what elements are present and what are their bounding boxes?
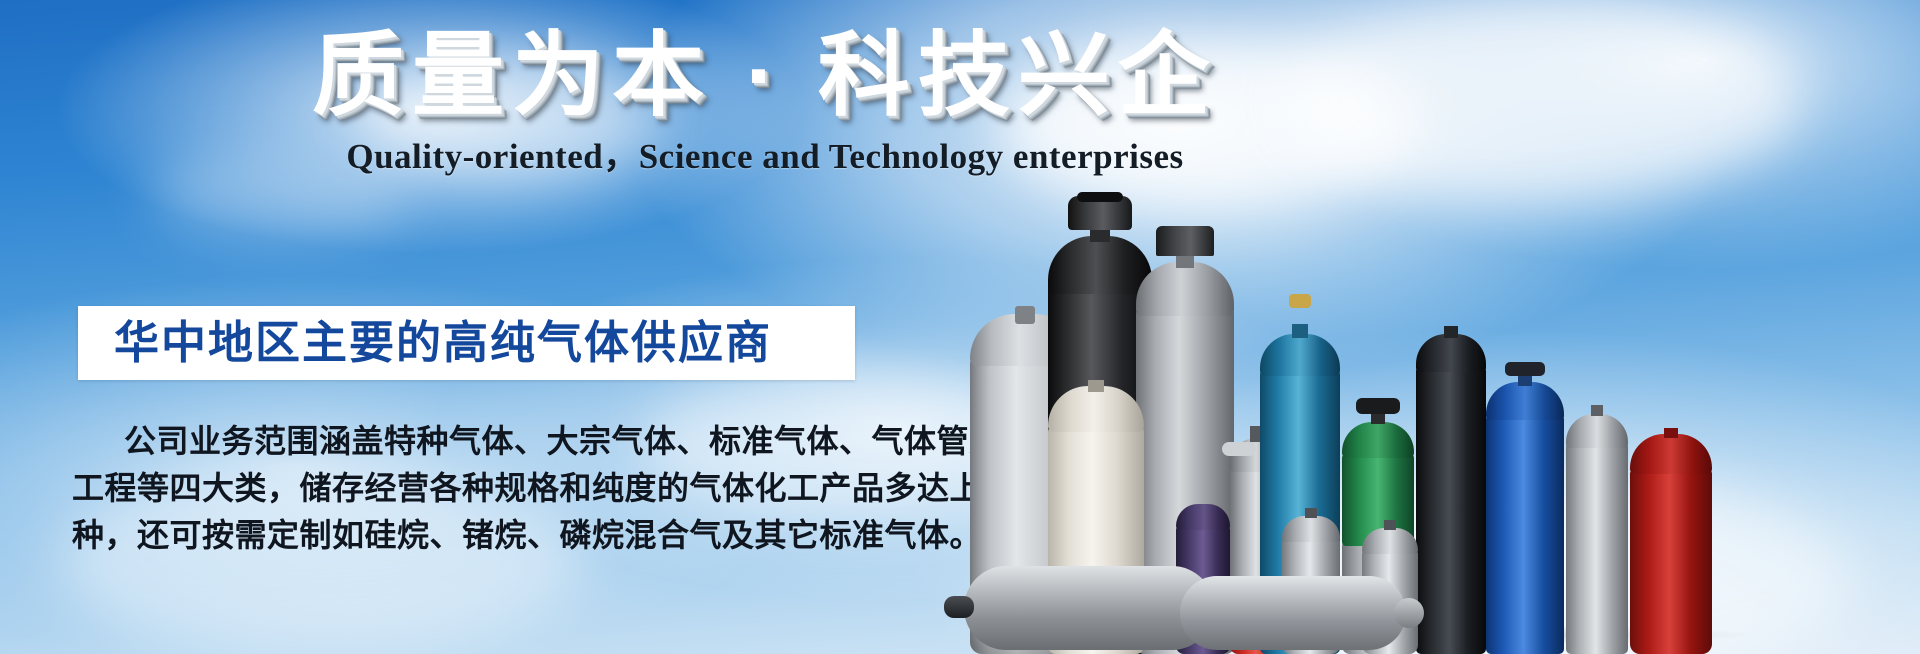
body-line: 种，还可按需定制如硅烷、锗烷、磷烷混合气及其它标准气体。 xyxy=(72,512,862,559)
promo-banner: 质量为本 · 科技兴企 Quality-oriented，Science and… xyxy=(0,0,1920,654)
cylinder-horizontal xyxy=(1166,576,1426,650)
cylinder xyxy=(1416,324,1486,654)
cylinder xyxy=(1486,374,1564,654)
gas-cylinders-image xyxy=(930,150,1920,654)
cylinder xyxy=(1566,404,1628,654)
cylinder xyxy=(1630,434,1712,654)
slogan-box: 华中地区主要的高纯气体供应商 xyxy=(78,306,855,380)
slogan-text: 华中地区主要的高纯气体供应商 xyxy=(78,317,772,369)
body-line: 公司业务范围涵盖特种气体、大宗气体、标准气体、气体管道 xyxy=(72,418,862,465)
body-line: 工程等四大类，储存经营各种规格和纯度的气体化工产品多达上百 xyxy=(72,465,862,512)
banner-body-copy: 公司业务范围涵盖特种气体、大宗气体、标准气体、气体管道 工程等四大类，储存经营各… xyxy=(72,418,862,559)
banner-headline: 质量为本 · 科技兴企 xyxy=(0,22,1530,130)
